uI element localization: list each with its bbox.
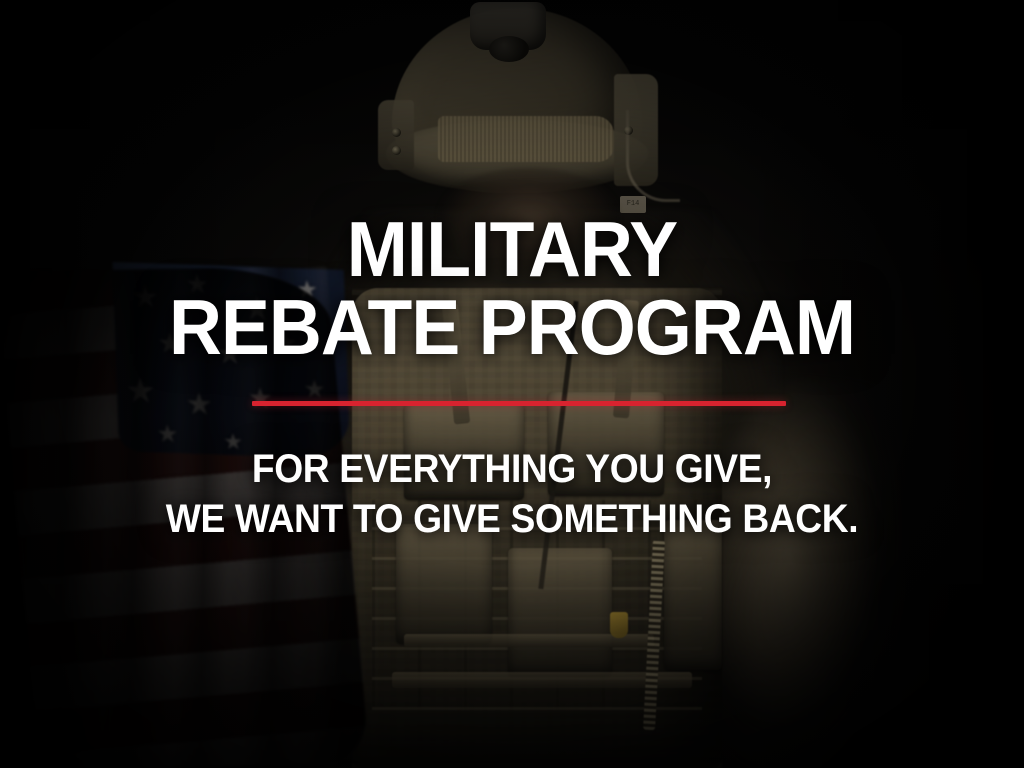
- headline-line-1: MILITARY: [31, 214, 994, 286]
- text-overlay: MILITARY REBATE PROGRAM FOR EVERYTHING Y…: [0, 0, 1024, 768]
- red-divider-rule: [252, 401, 786, 406]
- subheadline-line-1: FOR EVERYTHING YOU GIVE,: [36, 448, 988, 490]
- headline-line-2: REBATE PROGRAM: [31, 290, 994, 365]
- headline-block: MILITARY REBATE PROGRAM: [0, 214, 1024, 365]
- military-rebate-promo-slide: F14 ★ ★ ★ ★ ★ ★ ★: [0, 0, 1024, 768]
- subheadline-line-2: WE WANT TO GIVE SOMETHING BACK.: [36, 498, 988, 540]
- subheadline-block: FOR EVERYTHING YOU GIVE, WE WANT TO GIVE…: [0, 448, 1024, 541]
